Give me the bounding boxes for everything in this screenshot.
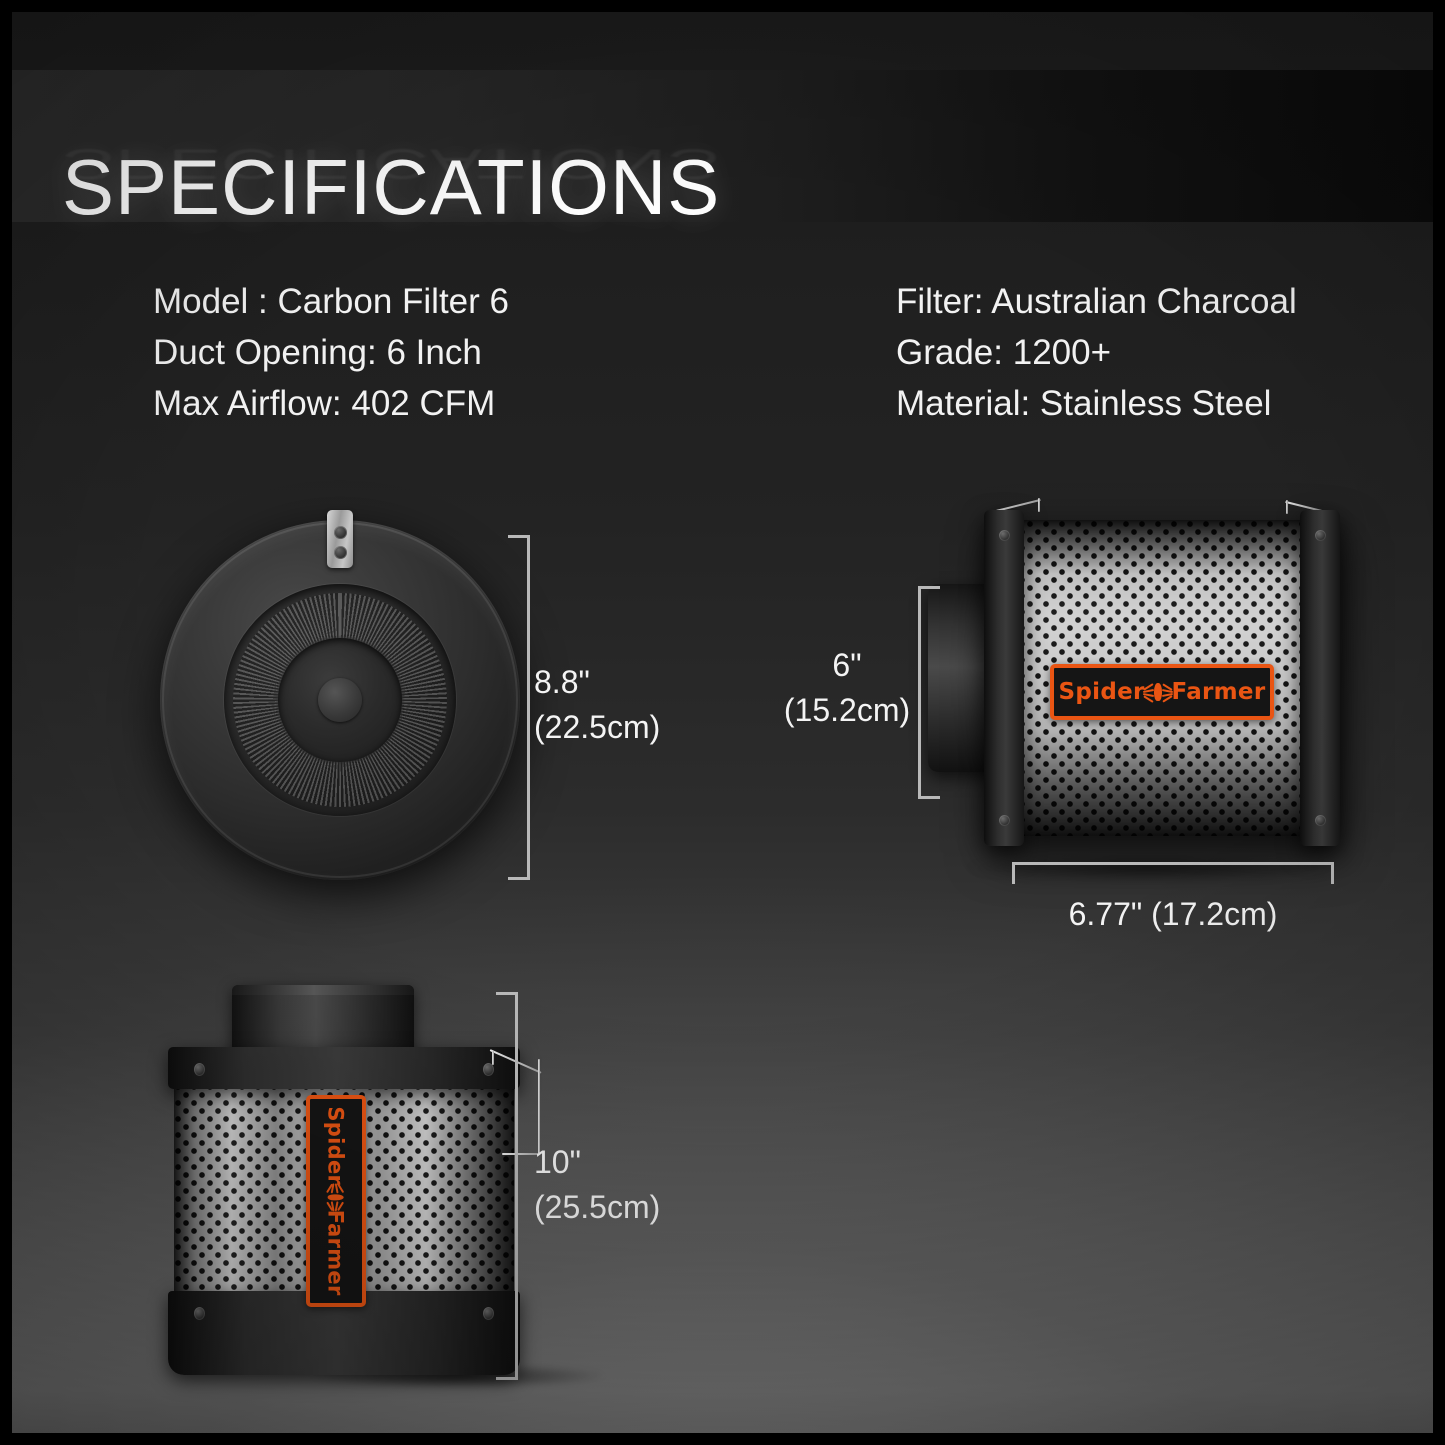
spec-max-airflow: Max Airflow: 402 CFM <box>153 378 509 429</box>
height-dimension-bracket <box>496 992 518 1380</box>
end-cap-left <box>984 510 1024 846</box>
specifications-page: SPECIFICATIONS SPECIFICATIONS Model : Ca… <box>0 0 1445 1445</box>
front-hub <box>318 678 362 722</box>
duct-dimension-label: 6" (15.2cm) <box>782 643 912 734</box>
duct-metric: (15.2cm) <box>782 688 912 733</box>
mounting-bracket-icon <box>327 510 353 568</box>
diameter-imperial: 8.8" <box>534 660 660 705</box>
screw-icon <box>194 1307 205 1320</box>
brand-logo-badge: Spider Farmer <box>306 1095 366 1307</box>
product-upright-view: Spider Farmer <box>168 985 520 1375</box>
height-dimension-label: 10" (25.5cm) <box>534 1140 660 1231</box>
spec-filter-material: Filter: Australian Charcoal <box>896 276 1297 327</box>
brand-word-farmer: Farmer <box>324 1210 348 1296</box>
brand-logo-badge: Spider Farmer <box>1050 664 1274 720</box>
height-metric: (25.5cm) <box>534 1185 660 1230</box>
spec-body-material: Material: Stainless Steel <box>896 378 1297 429</box>
duct-dimension-bracket <box>918 586 940 799</box>
screw-icon <box>1315 815 1326 826</box>
brand-word-spider: Spider <box>1059 679 1145 705</box>
brand-logo-rotated: Spider Farmer <box>324 1106 348 1295</box>
screw-icon <box>334 546 347 559</box>
screw-icon <box>999 815 1010 826</box>
screw-icon <box>194 1063 205 1076</box>
spider-icon <box>1146 680 1170 704</box>
brand-logo-text: Spider Farmer <box>324 1106 348 1295</box>
spec-model: Model : Carbon Filter 6 <box>153 276 509 327</box>
width-dimension-label: 6.77" (17.2cm) <box>1012 892 1334 937</box>
product-side-view: Spider Farmer <box>928 498 1340 858</box>
screw-icon <box>483 1307 494 1320</box>
duct-lip <box>232 985 414 995</box>
page-title: SPECIFICATIONS <box>62 148 720 226</box>
screw-icon <box>999 530 1010 541</box>
duct-imperial: 6" <box>782 643 912 688</box>
spider-icon <box>325 1186 347 1208</box>
screw-icon <box>334 526 347 539</box>
end-cap-top <box>168 1047 520 1089</box>
spec-column-right: Filter: Australian Charcoal Grade: 1200+… <box>896 276 1297 429</box>
screw-icon <box>1315 530 1326 541</box>
product-front-view <box>160 520 520 880</box>
spec-duct-opening: Duct Opening: 6 Inch <box>153 327 509 378</box>
width-dimension-bracket <box>1012 862 1334 884</box>
diameter-dimension-label: 8.8" (22.5cm) <box>534 660 660 751</box>
end-cap-right <box>1300 510 1340 846</box>
brand-word-spider: Spider <box>324 1106 348 1185</box>
width-value: 6.77" (17.2cm) <box>1012 892 1334 937</box>
brand-logo-text: Spider Farmer <box>1059 679 1266 705</box>
spec-column-left: Model : Carbon Filter 6 Duct Opening: 6 … <box>153 276 509 429</box>
diameter-metric: (22.5cm) <box>534 705 660 750</box>
diameter-dimension-bracket <box>508 535 530 880</box>
height-imperial: 10" <box>534 1140 660 1185</box>
brand-word-farmer: Farmer <box>1172 679 1266 705</box>
spec-grade: Grade: 1200+ <box>896 327 1297 378</box>
